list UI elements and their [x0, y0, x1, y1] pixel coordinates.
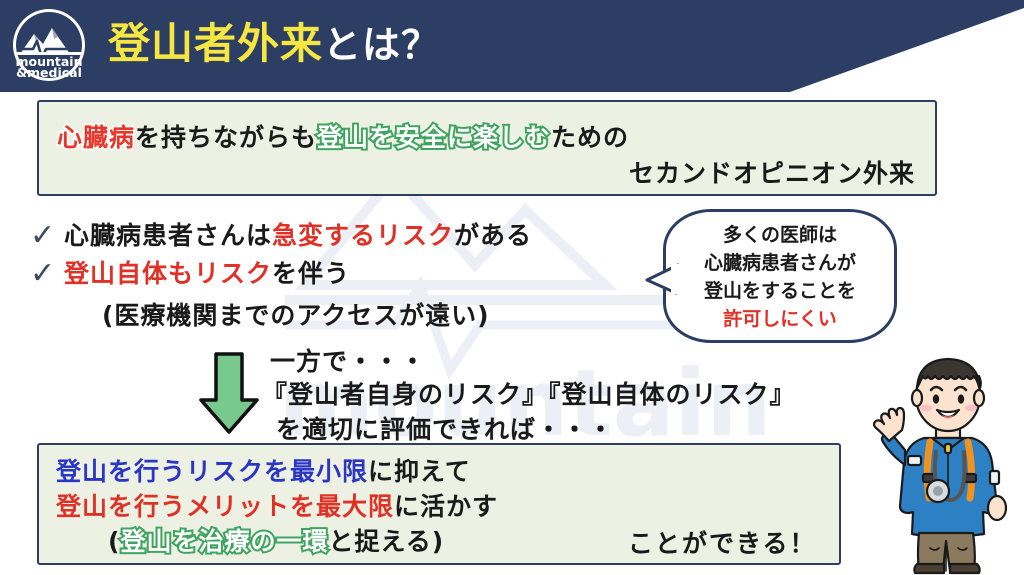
down-arrow-icon: [198, 352, 260, 434]
conclusion-3-emphasis: 登山を治療の一環: [120, 527, 328, 556]
check-icon: ✓: [30, 218, 64, 254]
conclusion-2-emphasis: 登山を行うメリットを最大限: [56, 492, 394, 521]
hiker-doctor-illustration: [872, 352, 1024, 575]
transition-line-3: を適切に評価できれば・・・: [276, 410, 614, 446]
check-2-emphasis: 登山自体もリスク: [64, 259, 272, 288]
logo-text-line2: &medical: [16, 65, 82, 80]
conclusion-2-plain: に活かす: [394, 492, 498, 521]
definition-line-2: セカンドオピニオン外来: [629, 154, 915, 190]
slide-header: mountain &medical 登山者外来とは？: [0, 0, 1024, 92]
bubble-line-1: 多くの医師は: [666, 221, 894, 249]
list-item: ✓ 登山自体もリスクを伴う: [30, 256, 532, 292]
risk-checklist: ✓ 心臓病患者さんは急変するリスクがある ✓ 登山自体もリスクを伴う: [30, 218, 532, 294]
definition-emphasis-heart-disease: 心臓病: [57, 123, 135, 152]
bubble-line-3: 登山をすることを: [666, 277, 894, 305]
bubble-text: 多くの医師は 心臓病患者さんが 登山をすることを 許可しにくい: [666, 221, 894, 333]
checklist-sub-note: (医療機関までのアクセスが遠い): [102, 296, 490, 332]
definition-plain-2: ための: [551, 123, 629, 152]
conclusion-3-open: (: [108, 527, 120, 556]
mountain-medical-logo-icon: mountain &medical: [12, 8, 86, 82]
page-title-highlight: 登山者外来: [108, 19, 323, 68]
check-2-plain-after: を伴う: [272, 259, 350, 288]
conclusion-line-2: 登山を行うメリットを最大限に活かす: [56, 487, 498, 523]
transition-line-2: 『登山者自身のリスク』『登山自体のリスク』: [262, 375, 796, 411]
bubble-tail-icon: [645, 262, 679, 296]
bubble-line-4: 許可しにくい: [666, 305, 894, 333]
check-1-emphasis: 急変するリスク: [272, 221, 454, 250]
conclusion-line-1: 登山を行うリスクを最小限に抑えて: [56, 452, 471, 488]
definition-box: 心臓病を持ちながらも登山を安全に楽しむための セカンドオピニオン外来: [37, 100, 937, 196]
doctor-opinion-bubble: 多くの医師は 心臓病患者さんが 登山をすることを 許可しにくい: [663, 209, 897, 343]
conclusion-3-plain: と捉える): [328, 527, 444, 556]
transition-line-1: 一方で・・・: [270, 342, 426, 378]
list-item-label: 心臓病患者さんは急変するリスクがある: [64, 218, 532, 254]
definition-line-1: 心臓病を持ちながらも登山を安全に楽しむための: [57, 118, 629, 154]
conclusion-1-emphasis: 登山を行うリスクを最小限: [56, 457, 368, 486]
conclusion-1-plain: に抑えて: [368, 457, 471, 486]
slide-root: mountain &medical mountain &medical 登山者外…: [0, 0, 1024, 575]
conclusion-line-3: (登山を治療の一環と捉える): [108, 522, 444, 558]
check-1-plain-after: がある: [454, 221, 532, 250]
page-title: 登山者外来とは？: [108, 14, 440, 75]
list-item-label: 登山自体もリスクを伴う: [64, 256, 350, 292]
conclusion-statement: ことができる！: [628, 524, 817, 560]
definition-plain-1: を持ちながらも: [135, 123, 317, 152]
bubble-line-2: 心臓病患者さんが: [666, 249, 894, 277]
check-1-plain-before: 心臓病患者さんは: [64, 221, 272, 250]
list-item: ✓ 心臓病患者さんは急変するリスクがある: [30, 218, 532, 254]
page-title-rest: とは？: [323, 23, 440, 67]
definition-emphasis-safe-climbing: 登山を安全に楽しむ: [317, 123, 551, 152]
check-icon: ✓: [30, 256, 64, 292]
